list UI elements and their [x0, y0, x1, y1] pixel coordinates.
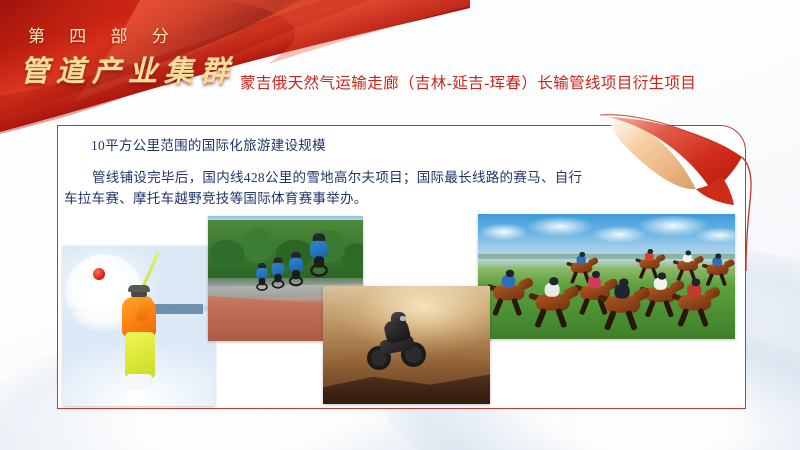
body-paragraph: 管线铺设完毕后，国内线428公里的雪地高尔夫项目；国际最长线路的赛马、自行车拉车… [64, 168, 594, 210]
section-number-label: 第 四 部 分 [28, 22, 179, 47]
cloud-layer [478, 216, 735, 256]
horse-and-jockey [702, 257, 735, 287]
photo-motocross[interactable] [323, 286, 490, 404]
slide-title: 蒙吉俄天然气运输走廊（吉林-延吉-珲春）长输管线项目衍生项目 [240, 72, 760, 95]
horse-and-jockey [672, 284, 723, 328]
horse-and-jockey [529, 283, 582, 329]
horse-and-jockey [598, 284, 652, 331]
red-golf-ball-icon [93, 268, 105, 280]
tree-line [208, 220, 363, 278]
cyclist-figure [288, 252, 304, 287]
photo-snow-golf[interactable] [63, 246, 215, 406]
photo-horse-racing[interactable] [478, 214, 735, 339]
body-heading: 10平方公里范围的国际化旅游建设规模 [91, 134, 326, 154]
slide-canvas: 第 四 部 分 管道产业集群 蒙吉俄天然气运输走廊（吉林-延吉-珲春）长输管线项… [0, 0, 800, 450]
motocross-rider [367, 312, 429, 372]
section-name-label: 管道产业集群 [20, 48, 236, 90]
cyclist-figure [271, 257, 286, 288]
cyclist-figure [255, 263, 268, 291]
content-card: 10平方公里范围的国际化旅游建设规模 管线铺设完毕后，国内线428公里的雪地高尔… [57, 125, 746, 409]
golfer-figure [115, 284, 167, 394]
cyclist-figure [309, 233, 329, 277]
